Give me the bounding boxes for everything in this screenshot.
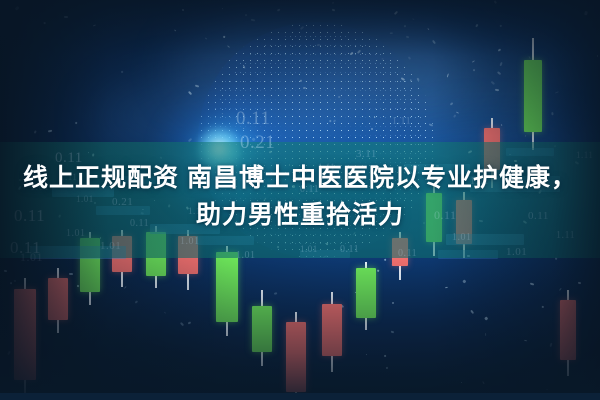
headline-line-2: 助力男性重拾活力 <box>0 197 600 234</box>
bottom-edge <box>0 393 600 400</box>
page-title: 线上正规配资 南昌博士中医医院以专业护健康， 助力男性重拾活力 <box>0 160 600 234</box>
banner-image: 0.110.211.113.110.111.111.011.010.110.21… <box>0 0 600 400</box>
headline-line-1: 线上正规配资 南昌博士中医医院以专业护健康， <box>0 160 600 197</box>
